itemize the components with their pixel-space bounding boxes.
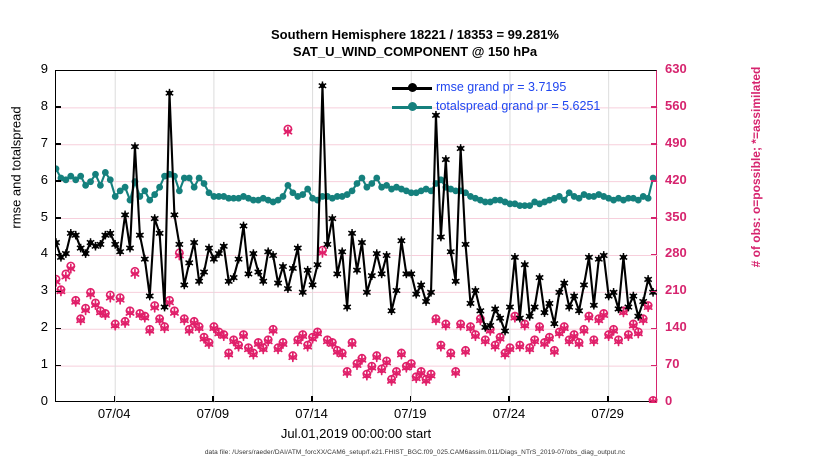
circle-marker-icon bbox=[408, 102, 417, 111]
y-tickmark-right bbox=[651, 254, 657, 256]
legend-item-totalspread[interactable]: totalspread grand pr = 5.6251 bbox=[392, 97, 607, 116]
x-tickmark bbox=[114, 396, 116, 402]
y-tickmark-right bbox=[651, 365, 657, 367]
x-tickmark bbox=[410, 396, 412, 402]
y-tickmark-right bbox=[651, 291, 657, 293]
x-tick-07/04: 07/04 bbox=[84, 406, 144, 421]
x-tickmark bbox=[212, 396, 214, 402]
x-tick-07/29: 07/29 bbox=[578, 406, 638, 421]
y-tick-right-490: 490 bbox=[665, 135, 711, 150]
y-tick-right-350: 350 bbox=[665, 209, 711, 224]
y-axis-right-title: # of obs: o=possible; *=assimilated bbox=[749, 2, 763, 332]
y-tickmark-left bbox=[55, 106, 61, 108]
y-tick-right-210: 210 bbox=[665, 282, 711, 297]
x-tickmark bbox=[607, 396, 609, 402]
y-tickmark-left bbox=[55, 328, 61, 330]
y-tickmark-left bbox=[55, 291, 61, 293]
legend-label-totalspread: totalspread grand pr = 5.6251 bbox=[436, 97, 600, 116]
x-tick-07/14: 07/14 bbox=[282, 406, 342, 421]
y-tick-left-0: 0 bbox=[14, 393, 48, 408]
y-tickmark-left bbox=[55, 180, 61, 182]
y-tick-left-1: 1 bbox=[14, 356, 48, 371]
totalspread-series bbox=[56, 165, 656, 209]
y-tick-left-2: 2 bbox=[14, 319, 48, 334]
x-tick-07/09: 07/09 bbox=[183, 406, 243, 421]
legend-label-rmse: rmse grand pr = 3.7195 bbox=[436, 78, 566, 97]
y-tickmark-right bbox=[651, 106, 657, 108]
x-tickmark bbox=[508, 396, 510, 402]
y-axis-left-title: rmse and totalspread bbox=[9, 18, 24, 318]
y-tickmark-left bbox=[55, 254, 61, 256]
chart-legend: rmse grand pr = 3.7195 totalspread grand… bbox=[392, 78, 607, 118]
title-line-2: SAT_U_WIND_COMPONENT @ 150 hPa bbox=[0, 43, 830, 60]
y-tick-right-420: 420 bbox=[665, 172, 711, 187]
legend-item-rmse[interactable]: rmse grand pr = 3.7195 bbox=[392, 78, 607, 97]
plot-area bbox=[55, 70, 657, 402]
x-tick-07/19: 07/19 bbox=[380, 406, 440, 421]
x-tick-07/24: 07/24 bbox=[479, 406, 539, 421]
x-axis-title: Jul.01,2019 00:00:00 start bbox=[55, 426, 657, 441]
data-file-footer: data file: /Users/raeder/DAI/ATM_forcXX/… bbox=[0, 449, 830, 456]
y-tick-right-70: 70 bbox=[665, 356, 711, 371]
y-tickmark-left bbox=[55, 365, 61, 367]
y-tick-right-0: 0 bbox=[665, 393, 711, 408]
star-marker-icon bbox=[408, 83, 417, 92]
plot-svg bbox=[56, 71, 658, 403]
y-tickmark-right bbox=[651, 180, 657, 182]
y-tickmark-right bbox=[651, 217, 657, 219]
y-tickmark-left bbox=[55, 143, 61, 145]
y-tick-right-560: 560 bbox=[665, 98, 711, 113]
y-tickmark-right bbox=[651, 143, 657, 145]
y-tickmark-right bbox=[651, 328, 657, 330]
y-tick-right-630: 630 bbox=[665, 61, 711, 76]
title-line-1: Southern Hemisphere 18221 / 18353 = 99.2… bbox=[0, 26, 830, 43]
figure-canvas: Southern Hemisphere 18221 / 18353 = 99.2… bbox=[0, 0, 830, 470]
y-tick-right-140: 140 bbox=[665, 319, 711, 334]
y-tick-right-280: 280 bbox=[665, 245, 711, 260]
gridlines bbox=[56, 71, 658, 403]
y-tickmark-left bbox=[55, 217, 61, 219]
rmse-series bbox=[56, 81, 657, 335]
chart-title: Southern Hemisphere 18221 / 18353 = 99.2… bbox=[0, 26, 830, 60]
x-tickmark bbox=[311, 396, 313, 402]
